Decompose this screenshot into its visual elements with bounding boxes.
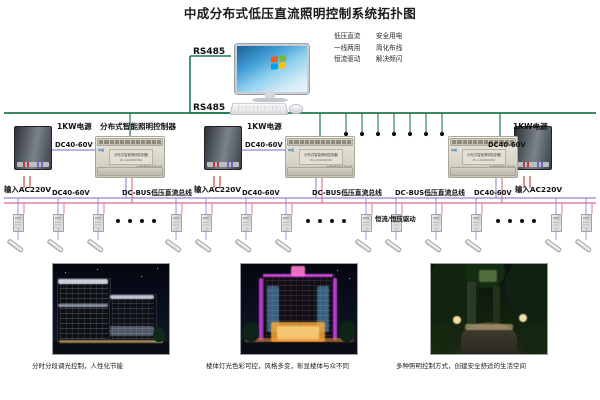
led-driver xyxy=(13,214,24,232)
photo-hotel-facade xyxy=(240,263,358,355)
ac-input-label-2: 输入AC220V xyxy=(194,186,241,193)
windows-logo-icon xyxy=(271,55,286,70)
photo-office-towers xyxy=(52,263,170,355)
brand-mark: 中成 xyxy=(451,148,457,152)
dc-link-label-2: DC40-60V xyxy=(245,142,283,149)
feature-right: 解决频闪 xyxy=(376,54,418,66)
led-driver xyxy=(281,214,292,232)
ac-input-label-3: 输入AC220V xyxy=(515,186,562,193)
led-driver xyxy=(431,214,442,232)
led-driver xyxy=(581,214,592,232)
host-computer xyxy=(231,44,309,114)
led-driver xyxy=(241,214,252,232)
feature-right: 安全用电 xyxy=(376,31,418,43)
photo-garden-path xyxy=(430,263,548,355)
dc-link-label-1: DC40-60V xyxy=(55,142,93,149)
led-driver xyxy=(551,214,562,232)
monitor-screen xyxy=(235,44,309,94)
dc-output-label-3: DC40-60V xyxy=(474,190,512,197)
feature-row: 恒流驱动解决频闪 xyxy=(334,54,418,66)
dc-bus-label-1: DC-BUS低压直流总线 xyxy=(122,190,192,197)
led-driver xyxy=(471,214,482,232)
led-driver xyxy=(361,214,372,232)
brand-mark: 中成 xyxy=(288,148,294,152)
led-driver xyxy=(201,214,212,232)
controller-model-code: ZC-C1000W-WQ xyxy=(463,158,505,162)
feature-row: 低压直流安全用电 xyxy=(334,31,418,43)
controller-model-name: 分布式智能照明控制器 xyxy=(463,152,505,157)
brand-mark: 中成 xyxy=(98,148,104,152)
controller-faceplate: 分布式智能照明控制器 ZC-C1000W-WQ xyxy=(299,149,343,165)
led-driver xyxy=(53,214,64,232)
controller-faceplate: 分布式智能照明控制器 ZC-C1000W-WQ xyxy=(462,149,506,165)
feature-left: 恒流驱动 xyxy=(334,54,376,66)
mouse-icon xyxy=(289,104,303,114)
controller-faceplate: 分布式智能照明控制器 ZC-C1000W-WQ xyxy=(109,149,153,165)
feature-left: 低压直流 xyxy=(334,31,376,43)
driver-type-label: 恒流/恒压驱动 xyxy=(375,216,416,222)
feature-list: 低压直流安全用电 一线两用简化布线 恒流驱动解决频闪 xyxy=(334,31,418,66)
controller-model-code: ZC-C1000W-WQ xyxy=(300,158,342,162)
led-driver xyxy=(171,214,182,232)
keyboard-icon xyxy=(229,103,289,115)
feature-right: 简化布线 xyxy=(376,43,418,55)
dc-bus-label-2: DC-BUS低压直流总线 xyxy=(312,190,382,197)
controller-label-1: 分布式智能照明控制器 xyxy=(100,123,176,131)
led-driver xyxy=(93,214,104,232)
lighting-controller-1: 中成 分布式智能照明控制器 ZC-C1000W-WQ 中成智能科技有限公司 xyxy=(95,136,165,178)
terminal-block xyxy=(97,138,163,146)
dc-output-label-1: DC40-60V xyxy=(52,190,90,197)
photo-caption-2: 楼体灯光色彩可控，风格多变，彰显楼体与众不同 xyxy=(206,360,349,370)
rs485-label-lower: RS485 xyxy=(193,104,225,113)
page-title: 中成分布式低压直流照明控制系统拓扑图 xyxy=(0,8,600,21)
psu-label-1: 1KW电源 xyxy=(57,123,92,131)
controller-model-name: 分布式智能照明控制器 xyxy=(300,152,342,157)
rs485-label-upper: RS485 xyxy=(193,48,225,57)
photo-caption-1: 分时分段调光控制，人性化节能 xyxy=(32,360,123,370)
photo-caption-3: 多种照明控制方式，创建安全舒适的生活空间 xyxy=(396,360,526,370)
terminal-block xyxy=(287,138,353,146)
dc-bus-label-3: DC-BUS低压直流总线 xyxy=(395,190,465,197)
feature-row: 一线两用简化布线 xyxy=(334,43,418,55)
psu-label-2: 1KW电源 xyxy=(247,123,282,131)
dc-link-label-3: DC40-60V xyxy=(488,142,526,149)
controller-model-name: 分布式智能照明控制器 xyxy=(110,152,152,157)
monitor-base xyxy=(252,98,288,102)
controller-model-code: ZC-C1000W-WQ xyxy=(110,158,152,162)
dc-output-label-2: DC40-60V xyxy=(242,190,280,197)
power-supply-unit-1 xyxy=(14,126,52,170)
psu-label-3: 1KW电源 xyxy=(513,123,548,131)
feature-left: 一线两用 xyxy=(334,43,376,55)
ac-input-label-1: 输入AC220V xyxy=(4,186,51,193)
power-supply-unit-2 xyxy=(204,126,242,170)
lighting-controller-2: 中成 分布式智能照明控制器 ZC-C1000W-WQ 中成智能科技有限公司 xyxy=(285,136,355,178)
